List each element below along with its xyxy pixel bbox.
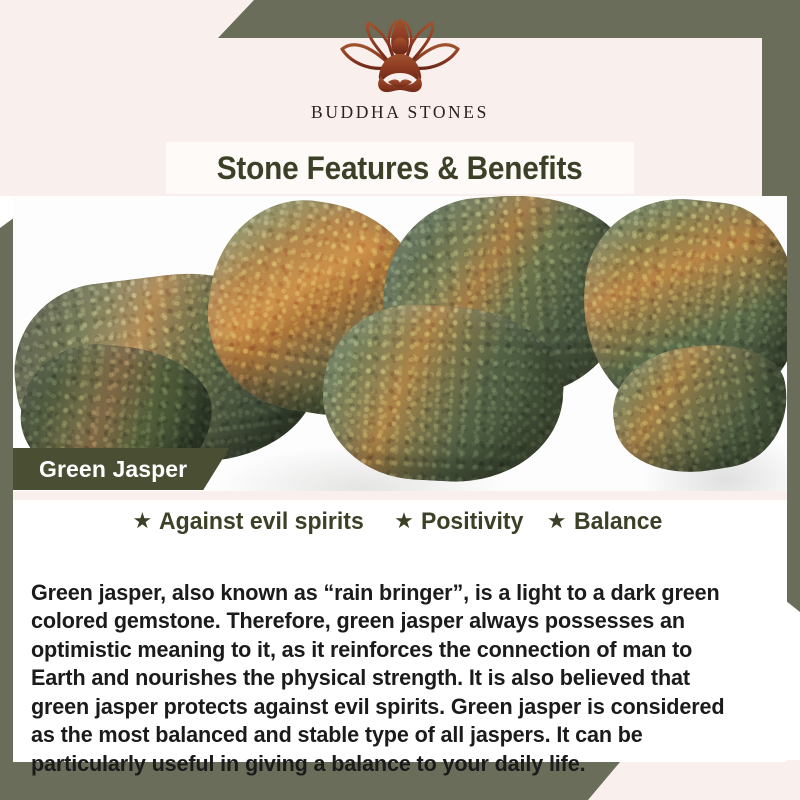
stone-photo-scene <box>13 196 787 491</box>
star-icon: ★ <box>133 510 153 532</box>
benefit-label: Positivity <box>421 508 523 536</box>
benefit-item-positivity: ★ Positivity <box>394 508 530 536</box>
stone-description: Green jasper, also known as “rain bringe… <box>31 579 745 779</box>
benefit-item-against-evil-spirits: ★ Against evil spirits <box>133 508 378 536</box>
lotus-meditation-figure-icon <box>325 18 475 100</box>
infographic-canvas: BUDDHA STONES Stone Features & Benefits … <box>0 0 800 800</box>
stone-name-tag: Green Jasper <box>13 448 229 490</box>
benefit-label: Against evil spirits <box>159 508 364 536</box>
benefits-row: ★ Against evil spirits ★ Positivity ★ Ba… <box>13 508 787 536</box>
stone-name-label: Green Jasper <box>39 456 187 483</box>
benefit-label: Balance <box>574 508 662 536</box>
benefit-item-balance: ★ Balance <box>547 508 668 536</box>
star-icon: ★ <box>547 510 567 532</box>
page-title: Stone Features & Benefits <box>217 150 583 187</box>
brand-logo: BUDDHA STONES <box>0 18 800 138</box>
star-icon: ★ <box>394 510 414 532</box>
stone-photo <box>13 196 787 491</box>
panel-top-sliver <box>13 491 787 500</box>
title-banner: Stone Features & Benefits <box>166 142 634 194</box>
brand-name: BUDDHA STONES <box>311 102 489 123</box>
